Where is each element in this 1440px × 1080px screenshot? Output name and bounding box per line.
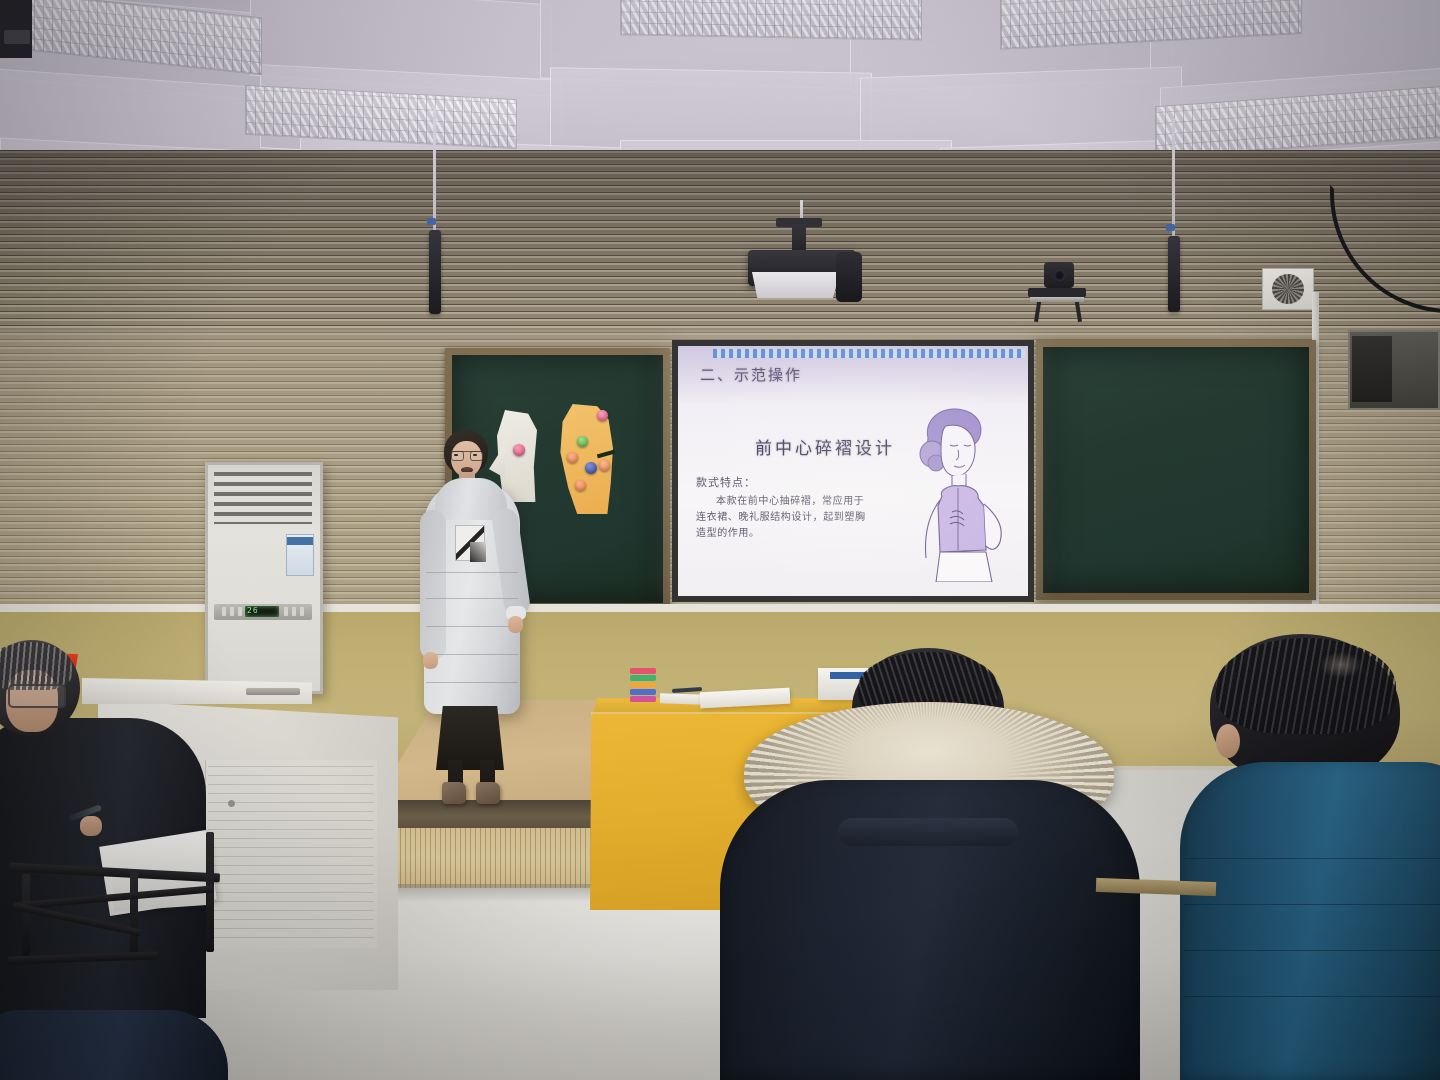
jacket-quilt-line	[1184, 858, 1440, 859]
slide-header-stripe	[713, 349, 1025, 358]
thread-spool	[630, 682, 656, 688]
wall-upper-shadow	[0, 150, 1440, 330]
observer-left-glasses	[8, 684, 66, 708]
coat-quilt-line	[426, 654, 518, 655]
mic-clip-right	[1166, 224, 1175, 231]
ceiling-microphone-right	[1168, 236, 1180, 312]
blackboard-right	[1036, 340, 1316, 600]
magnet-pink-top	[597, 410, 608, 421]
chair-bar	[14, 885, 214, 909]
wall-mounted-device	[0, 0, 32, 58]
observer-left-legs	[0, 1010, 228, 1080]
observer-right-jacket	[1180, 762, 1440, 1080]
ac-button[interactable]	[300, 607, 304, 616]
projector-lens-housing	[752, 272, 840, 298]
observer-left-hand	[80, 816, 102, 836]
jacket-quilt-line	[1184, 996, 1440, 997]
magnet-green	[577, 436, 588, 447]
observer-right-ear	[1216, 724, 1240, 758]
teacher-boot-left	[442, 782, 466, 804]
ac-button[interactable]	[284, 607, 288, 616]
jacket-hood-seam	[838, 818, 1018, 846]
chair-bar	[130, 872, 138, 958]
teacher-boot-right	[476, 782, 500, 804]
magnet-orange	[567, 452, 578, 463]
coat-quilt-line	[426, 626, 518, 627]
panel-inner	[1352, 336, 1392, 402]
ac-button[interactable]	[238, 607, 242, 616]
observer-left	[0, 640, 234, 1080]
observer-left-hair	[0, 642, 72, 690]
ceiling-microphone-left	[429, 230, 441, 314]
ac-display-value: 26	[247, 606, 259, 615]
teacher-hand-right	[508, 616, 523, 633]
observer-right-hair	[1216, 638, 1396, 734]
projection-screen: 二、示范操作 前中心碎褶设计 款式特点： 本款在前中心抽碎褶，常应用于连衣裙、晚…	[672, 340, 1034, 602]
ac-vent-slats	[214, 472, 312, 524]
desk-paper	[660, 693, 704, 705]
camera-base	[1028, 288, 1086, 297]
ceiling-light-fixture	[620, 0, 922, 41]
ac-label-band	[287, 537, 313, 545]
thread-spool	[630, 689, 656, 695]
observer-right	[1180, 612, 1440, 1080]
observer-center	[720, 630, 1150, 1080]
thread-spool	[630, 696, 656, 702]
slide-surface: 二、示范操作 前中心碎褶设计 款式特点： 本款在前中心抽碎褶，常应用于连衣裙、晚…	[678, 346, 1028, 596]
teacher-arm-left	[420, 510, 446, 660]
projector-lens	[836, 252, 862, 302]
camera-lens-icon	[1054, 270, 1065, 281]
teacher-eye-right	[473, 454, 477, 456]
observer-right-crown	[1320, 652, 1362, 678]
mic-clip-left	[427, 218, 436, 225]
jacket-quilt-line	[1184, 950, 1440, 951]
ac-button[interactable]	[222, 607, 226, 616]
chair-frame-left	[10, 868, 240, 998]
coat-quilt-line	[426, 682, 518, 683]
coat-print-graphic-2	[470, 542, 486, 562]
coat-quilt-line	[426, 598, 518, 599]
slide-body-text: 本款在前中心抽碎褶，常应用于连衣裙、晚礼服结构设计，起到塑胸造型的作用。	[696, 494, 874, 542]
coat-quilt-line	[426, 572, 518, 573]
teacher-presenting	[418, 430, 528, 795]
slide-subtitle: 款式特点：	[696, 474, 756, 490]
teacher-hand-left	[423, 652, 438, 669]
thread-spool	[630, 668, 656, 674]
magnet-orange-3	[575, 480, 586, 491]
ac-button[interactable]	[230, 607, 234, 616]
fan-grill-icon	[1272, 274, 1304, 304]
slide-heading: 二、示范操作	[700, 364, 802, 385]
device-panel	[4, 30, 30, 44]
thread-spools	[630, 668, 658, 702]
thread-spool	[630, 675, 656, 681]
slide-title: 前中心碎褶设计	[730, 434, 920, 459]
chair-bar	[22, 874, 30, 956]
chair-bar	[13, 903, 142, 937]
podium-handle[interactable]	[246, 688, 300, 695]
magnet-orange-2	[599, 460, 610, 471]
teacher-eye-left	[454, 454, 458, 456]
magnet-blue	[585, 462, 597, 474]
ac-button[interactable]	[292, 607, 296, 616]
fashion-sketch-icon	[894, 400, 1014, 582]
chair-bar	[8, 951, 158, 964]
classroom-photo: 二、示范操作 前中心碎褶设计 款式特点： 本款在前中心抽碎褶，常应用于连衣裙、晚…	[0, 0, 1440, 1080]
jacket-quilt-line	[1184, 904, 1440, 905]
